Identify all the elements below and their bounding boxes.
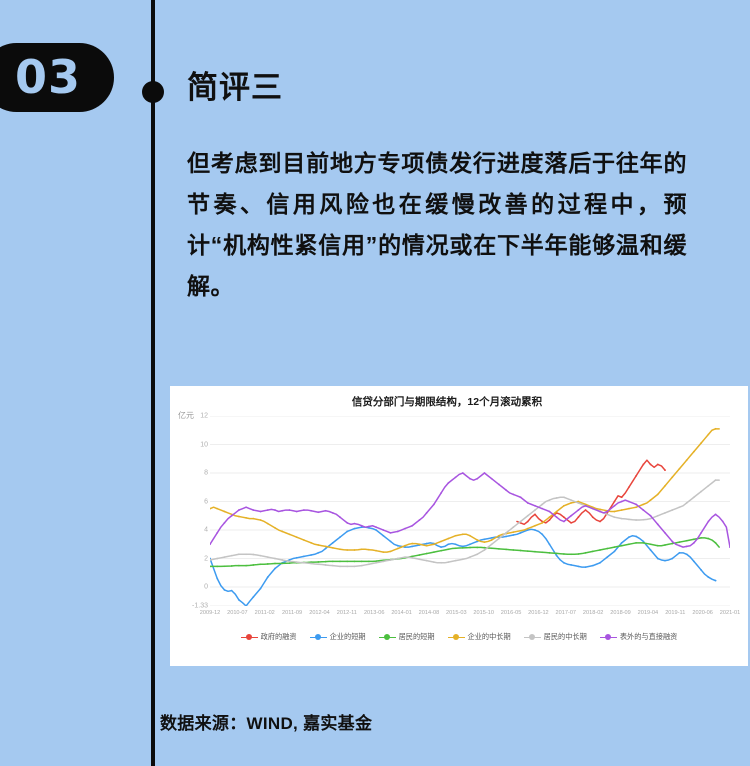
series-point-0 xyxy=(628,486,630,488)
series-point-0 xyxy=(650,464,652,466)
x-tick-label: 2012-04 xyxy=(309,610,330,616)
y-tick-label: 4 xyxy=(204,527,208,534)
series-point-3 xyxy=(260,519,262,521)
series-point-4 xyxy=(375,562,377,564)
series-point-1 xyxy=(317,552,319,554)
series-point-1 xyxy=(310,554,312,556)
series-point-1 xyxy=(382,535,384,537)
series-point-5 xyxy=(599,511,601,513)
series-point-1 xyxy=(671,558,673,560)
series-point-0 xyxy=(577,516,579,518)
series-point-5 xyxy=(614,505,616,507)
series-point-3 xyxy=(404,545,406,547)
series-point-1 xyxy=(469,543,471,545)
series-point-3 xyxy=(715,428,717,430)
series-point-4 xyxy=(332,565,334,567)
x-tick-label: 2014-08 xyxy=(419,610,440,616)
series-point-2 xyxy=(231,565,233,567)
series-point-2 xyxy=(238,565,240,567)
series-point-2 xyxy=(361,560,363,562)
legend-marker-icon xyxy=(600,634,617,641)
series-point-3 xyxy=(440,541,442,543)
series-point-3 xyxy=(419,543,421,545)
series-point-5 xyxy=(462,472,464,474)
series-point-1 xyxy=(614,551,616,553)
series-point-2 xyxy=(606,548,608,550)
series-point-3 xyxy=(216,508,218,510)
series-point-3 xyxy=(447,538,449,540)
series-point-4 xyxy=(563,496,565,498)
series-point-1 xyxy=(274,568,276,570)
series-point-4 xyxy=(260,555,262,557)
series-point-2 xyxy=(642,542,644,544)
series-point-5 xyxy=(368,526,370,528)
series-point-3 xyxy=(693,451,695,453)
series-point-3 xyxy=(686,459,688,461)
series-point-2 xyxy=(447,548,449,550)
series-point-2 xyxy=(549,552,551,554)
series-point-3 xyxy=(614,511,616,513)
series-line-3 xyxy=(210,429,719,552)
series-point-4 xyxy=(462,558,464,560)
series-point-5 xyxy=(498,484,500,486)
series-point-3 xyxy=(455,535,457,537)
series-point-1 xyxy=(339,536,341,538)
series-point-4 xyxy=(520,521,522,523)
series-point-4 xyxy=(426,560,428,562)
series-point-2 xyxy=(700,537,702,539)
series-point-0 xyxy=(534,513,536,515)
series-point-2 xyxy=(556,553,558,555)
series-line-1 xyxy=(210,527,716,606)
series-point-2 xyxy=(260,563,262,565)
series-point-3 xyxy=(563,505,565,507)
series-point-5 xyxy=(411,525,413,527)
series-point-2 xyxy=(476,547,478,549)
series-point-4 xyxy=(303,562,305,564)
series-point-5 xyxy=(671,541,673,543)
legend-label: 企业的中长期 xyxy=(468,632,511,642)
series-point-5 xyxy=(707,521,709,523)
series-point-3 xyxy=(346,549,348,551)
series-point-4 xyxy=(325,564,327,566)
series-point-1 xyxy=(440,546,442,548)
series-point-2 xyxy=(679,541,681,543)
series-point-3 xyxy=(520,530,522,532)
series-point-0 xyxy=(570,522,572,524)
series-point-4 xyxy=(281,559,283,561)
series-point-4 xyxy=(411,557,413,559)
series-point-4 xyxy=(368,563,370,565)
series-point-2 xyxy=(346,560,348,562)
series-point-3 xyxy=(274,527,276,529)
series-point-5 xyxy=(621,501,623,503)
series-point-2 xyxy=(281,562,283,564)
series-point-2 xyxy=(599,549,601,551)
series-point-3 xyxy=(390,551,392,553)
plot-area xyxy=(210,416,730,606)
series-point-3 xyxy=(245,517,247,519)
series-point-3 xyxy=(252,518,254,520)
series-point-3 xyxy=(361,548,363,550)
series-point-2 xyxy=(433,551,435,553)
series-point-2 xyxy=(614,546,616,548)
series-point-2 xyxy=(426,553,428,555)
series-point-5 xyxy=(570,515,572,517)
series-point-2 xyxy=(512,549,514,551)
series-point-1 xyxy=(447,543,449,545)
series-point-3 xyxy=(498,535,500,537)
series-point-3 xyxy=(469,535,471,537)
series-point-2 xyxy=(484,547,486,549)
series-point-3 xyxy=(599,508,601,510)
series-point-1 xyxy=(455,543,457,545)
series-point-2 xyxy=(541,551,543,553)
x-tick-label: 2019-04 xyxy=(638,610,659,616)
series-point-5 xyxy=(650,515,652,517)
series-point-3 xyxy=(368,549,370,551)
series-point-2 xyxy=(339,560,341,562)
series-point-4 xyxy=(455,560,457,562)
x-tick-label: 2016-05 xyxy=(501,610,522,616)
series-point-3 xyxy=(484,541,486,543)
series-point-1 xyxy=(563,562,565,564)
series-point-5 xyxy=(563,521,565,523)
series-point-4 xyxy=(606,513,608,515)
series-point-4 xyxy=(570,499,572,501)
x-tick-label: 2015-03 xyxy=(446,610,467,616)
series-point-1 xyxy=(599,562,601,564)
series-point-0 xyxy=(549,519,551,521)
series-point-2 xyxy=(267,563,269,565)
series-point-1 xyxy=(375,529,377,531)
series-point-1 xyxy=(224,589,226,591)
series-point-5 xyxy=(310,510,312,512)
chart-title: 信贷分部门与期限结构，12个月滚动累积 xyxy=(170,394,724,409)
series-point-1 xyxy=(592,565,594,567)
series-point-4 xyxy=(693,496,695,498)
series-point-5 xyxy=(382,529,384,531)
series-point-5 xyxy=(274,509,276,511)
x-tick-label: 2014-01 xyxy=(391,610,412,616)
series-point-5 xyxy=(361,525,363,527)
series-point-1 xyxy=(332,542,334,544)
series-point-3 xyxy=(527,528,529,530)
series-point-1 xyxy=(585,566,587,568)
series-point-4 xyxy=(317,563,319,565)
series-point-4 xyxy=(534,509,536,511)
series-point-1 xyxy=(664,560,666,562)
series-point-3 xyxy=(397,548,399,550)
legend-item[interactable]: 政府的融资 xyxy=(241,632,297,642)
series-point-5 xyxy=(354,523,356,525)
x-tick-label: 2021-01 xyxy=(720,610,741,616)
series-point-3 xyxy=(296,536,298,538)
series-point-3 xyxy=(310,542,312,544)
series-point-1 xyxy=(296,557,298,559)
y-tick-label: 8 xyxy=(204,470,208,477)
series-point-0 xyxy=(614,501,616,503)
series-point-4 xyxy=(650,518,652,520)
series-point-5 xyxy=(541,508,543,510)
legend-item[interactable]: 企业的短期 xyxy=(310,632,366,642)
series-point-3 xyxy=(556,511,558,513)
series-point-5 xyxy=(592,508,594,510)
series-point-4 xyxy=(642,519,644,521)
series-point-3 xyxy=(267,523,269,525)
x-axis-tick-labels: 2009-122010-072011-022011-092012-042012-… xyxy=(210,610,730,622)
y-tick-label: 2 xyxy=(204,555,208,562)
series-point-5 xyxy=(317,511,319,513)
series-point-1 xyxy=(411,546,413,548)
x-tick-label: 2019-11 xyxy=(665,610,685,616)
series-point-2 xyxy=(650,543,652,545)
series-point-5 xyxy=(404,528,406,530)
series-point-4 xyxy=(505,532,507,534)
series-point-4 xyxy=(491,543,493,545)
x-tick-label: 2015-10 xyxy=(473,610,494,616)
series-point-1 xyxy=(707,576,709,578)
section-number-label: 03 xyxy=(15,50,81,104)
series-point-3 xyxy=(664,485,666,487)
series-point-4 xyxy=(635,519,637,521)
series-point-4 xyxy=(224,556,226,558)
series-point-3 xyxy=(570,502,572,504)
legend-item[interactable]: 居民的中长期 xyxy=(524,632,587,642)
series-line-0 xyxy=(517,460,665,524)
legend-marker-icon xyxy=(524,634,541,641)
series-point-5 xyxy=(606,511,608,513)
series-point-2 xyxy=(693,538,695,540)
series-point-3 xyxy=(476,539,478,541)
series-point-3 xyxy=(375,550,377,552)
series-point-1 xyxy=(541,533,543,535)
series-point-4 xyxy=(252,554,254,556)
series-point-2 xyxy=(354,560,356,562)
series-point-2 xyxy=(621,545,623,547)
series-point-5 xyxy=(476,478,478,480)
series-point-5 xyxy=(346,522,348,524)
series-point-2 xyxy=(664,544,666,546)
body-paragraph: 但考虑到目前地方专项债发行进度落后于往年的节奏、信用风险也在缓慢改善的过程中，预… xyxy=(187,143,687,307)
series-point-3 xyxy=(671,476,673,478)
series-point-5 xyxy=(289,509,291,511)
series-point-2 xyxy=(289,562,291,564)
x-tick-label: 2018-09 xyxy=(610,610,631,616)
series-point-1 xyxy=(216,578,218,580)
legend-label: 居民的中长期 xyxy=(544,632,587,642)
series-point-5 xyxy=(231,515,233,517)
series-point-5 xyxy=(556,516,558,518)
series-point-2 xyxy=(224,565,226,567)
series-point-4 xyxy=(382,560,384,562)
legend-label: 居民的短期 xyxy=(399,632,435,642)
series-point-5 xyxy=(296,511,298,513)
series-point-0 xyxy=(585,509,587,511)
series-point-1 xyxy=(577,565,579,567)
data-source-note: 数据来源：WIND, 嘉实基金 xyxy=(160,709,372,734)
series-point-5 xyxy=(375,526,377,528)
series-point-4 xyxy=(671,509,673,511)
legend-label: 政府的融资 xyxy=(261,632,297,642)
series-point-4 xyxy=(628,518,630,520)
series-point-2 xyxy=(570,553,572,555)
series-point-0 xyxy=(592,516,594,518)
series-point-5 xyxy=(585,505,587,507)
legend-marker-icon xyxy=(379,634,396,641)
series-point-3 xyxy=(700,442,702,444)
series-point-5 xyxy=(426,512,428,514)
series-point-4 xyxy=(404,556,406,558)
legend-item[interactable]: 居民的短期 xyxy=(379,632,435,642)
series-point-5 xyxy=(281,510,283,512)
series-point-1 xyxy=(252,596,254,598)
series-point-5 xyxy=(484,472,486,474)
series-point-2 xyxy=(332,560,334,562)
series-point-2 xyxy=(628,543,630,545)
series-point-1 xyxy=(354,528,356,530)
series-point-2 xyxy=(462,547,464,549)
series-point-3 xyxy=(317,544,319,546)
series-point-4 xyxy=(614,516,616,518)
series-point-4 xyxy=(621,518,623,520)
series-point-3 xyxy=(281,531,283,533)
series-point-5 xyxy=(505,489,507,491)
series-point-1 xyxy=(715,580,717,582)
series-point-3 xyxy=(679,468,681,470)
series-point-1 xyxy=(390,541,392,543)
series-point-2 xyxy=(520,550,522,552)
series-point-5 xyxy=(433,503,435,505)
series-point-3 xyxy=(426,545,428,547)
line-chart-svg xyxy=(210,416,730,606)
series-point-0 xyxy=(657,464,659,466)
x-tick-label: 2018-02 xyxy=(583,610,604,616)
series-point-1 xyxy=(534,529,536,531)
series-point-5 xyxy=(577,509,579,511)
series-point-4 xyxy=(274,558,276,560)
series-point-5 xyxy=(339,516,341,518)
y-tick-label: -1.33 xyxy=(192,603,208,610)
series-point-2 xyxy=(317,561,319,563)
series-point-4 xyxy=(354,565,356,567)
series-point-2 xyxy=(527,550,529,552)
x-tick-label: 2011-02 xyxy=(255,610,275,616)
series-point-2 xyxy=(274,563,276,565)
vertical-divider xyxy=(151,0,155,766)
series-point-4 xyxy=(440,562,442,564)
series-point-3 xyxy=(642,503,644,505)
series-point-5 xyxy=(260,511,262,513)
series-point-5 xyxy=(534,505,536,507)
series-point-4 xyxy=(541,503,543,505)
series-point-5 xyxy=(245,506,247,508)
series-point-1 xyxy=(628,536,630,538)
series-point-1 xyxy=(686,553,688,555)
series-point-4 xyxy=(527,515,529,517)
series-point-5 xyxy=(657,523,659,525)
legend-label: 表外的与直接融资 xyxy=(620,632,678,642)
series-point-4 xyxy=(231,555,233,557)
series-point-5 xyxy=(303,509,305,511)
series-point-2 xyxy=(455,547,457,549)
series-point-2 xyxy=(534,551,536,553)
series-point-1 xyxy=(556,555,558,557)
legend-marker-icon xyxy=(310,634,327,641)
series-point-5 xyxy=(491,478,493,480)
series-point-1 xyxy=(267,576,269,578)
series-point-3 xyxy=(303,539,305,541)
series-point-4 xyxy=(419,558,421,560)
series-point-2 xyxy=(375,560,377,562)
series-point-4 xyxy=(657,515,659,517)
series-point-0 xyxy=(664,469,666,471)
series-point-3 xyxy=(411,543,413,545)
legend-item[interactable]: 企业的中长期 xyxy=(448,632,511,642)
series-point-5 xyxy=(252,509,254,511)
series-point-3 xyxy=(332,547,334,549)
series-point-5 xyxy=(693,542,695,544)
series-point-2 xyxy=(657,545,659,547)
series-point-2 xyxy=(252,564,254,566)
series-point-0 xyxy=(563,516,565,518)
series-point-4 xyxy=(339,565,341,567)
series-point-4 xyxy=(433,561,435,563)
x-tick-label: 2009-12 xyxy=(200,610,221,616)
series-point-3 xyxy=(541,522,543,524)
legend-item[interactable]: 表外的与直接融资 xyxy=(600,632,678,642)
y-axis-tick-labels: 121086420-1.33 xyxy=(182,416,208,606)
series-point-5 xyxy=(447,482,449,484)
series-point-5 xyxy=(397,531,399,533)
series-point-2 xyxy=(577,553,579,555)
series-point-3 xyxy=(650,499,652,501)
series-point-5 xyxy=(722,521,724,523)
series-point-3 xyxy=(224,511,226,513)
series-point-2 xyxy=(469,547,471,549)
series-point-0 xyxy=(527,521,529,523)
x-tick-label: 2017-07 xyxy=(556,610,577,616)
y-tick-label: 6 xyxy=(204,498,208,505)
series-line-4 xyxy=(210,480,719,566)
series-point-5 xyxy=(332,512,334,514)
series-point-3 xyxy=(657,493,659,495)
series-point-1 xyxy=(549,543,551,545)
series-point-4 xyxy=(469,556,471,558)
y-tick-label: 10 xyxy=(200,441,208,448)
series-point-5 xyxy=(469,478,471,480)
series-point-5 xyxy=(686,546,688,548)
series-point-1 xyxy=(260,588,262,590)
series-point-5 xyxy=(715,513,717,515)
series-point-1 xyxy=(397,545,399,547)
series-point-1 xyxy=(657,558,659,560)
series-point-4 xyxy=(267,556,269,558)
x-tick-label: 2010-07 xyxy=(227,610,248,616)
x-tick-label: 2011-09 xyxy=(282,610,302,616)
series-point-4 xyxy=(512,526,514,528)
series-point-5 xyxy=(664,532,666,534)
series-point-4 xyxy=(296,561,298,563)
series-point-1 xyxy=(238,599,240,601)
series-point-1 xyxy=(679,552,681,554)
series-point-2 xyxy=(635,542,637,544)
series-point-2 xyxy=(325,561,327,563)
series-point-4 xyxy=(245,553,247,555)
series-point-4 xyxy=(484,549,486,551)
series-point-1 xyxy=(621,542,623,544)
series-point-1 xyxy=(520,532,522,534)
